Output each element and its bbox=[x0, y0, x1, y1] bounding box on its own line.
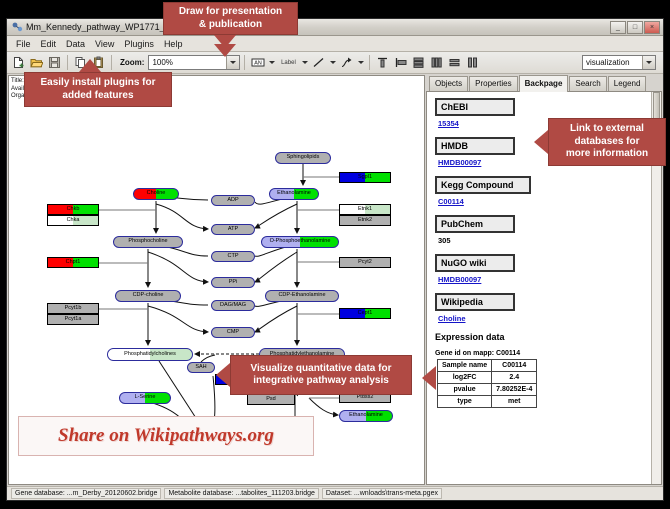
metabolite-node-phosphocholine[interactable]: Phosphocholine bbox=[113, 236, 183, 248]
metabolite-node-phosphatidylcholines[interactable]: Phosphatidylcholines bbox=[107, 348, 193, 361]
zoom-combobox[interactable]: 100% bbox=[148, 55, 240, 70]
expression-key: type bbox=[438, 396, 492, 408]
callout-plugins-text-line-0: Easily install plugins for bbox=[40, 77, 155, 90]
metabolite-node-dag-mag[interactable]: DAG/MAG bbox=[211, 300, 255, 311]
node-label: Cept1 bbox=[358, 311, 373, 317]
expression-value: C00114 bbox=[492, 360, 537, 372]
toolbar: Zoom: 100% AN Label bbox=[7, 52, 663, 74]
node-label: O-Phosphoethanolamine bbox=[270, 239, 331, 245]
callout-external-text-line-1: databases for bbox=[566, 136, 648, 149]
window-title: Mm_Kennedy_pathway_WP1771_45176.gpml bbox=[26, 22, 610, 32]
table-row: pvalue7.80252E-4 bbox=[438, 384, 537, 396]
node-label: Pcyt1a bbox=[65, 317, 82, 323]
node-label: Ethanolamine bbox=[277, 191, 311, 197]
gene-node-etnk2[interactable]: Etnk2 bbox=[339, 215, 391, 226]
zoom-value: 100% bbox=[152, 58, 172, 67]
close-button[interactable]: × bbox=[644, 21, 660, 34]
node-label: Choline bbox=[147, 191, 166, 197]
backpage-value-pubchem: 305 bbox=[438, 236, 661, 245]
node-label: Sphingolipids bbox=[287, 155, 320, 161]
label-dropdown-icon[interactable] bbox=[300, 55, 309, 70]
callout-visualize-text: Visualize quantitative data forintegrati… bbox=[251, 363, 392, 388]
callout-plugins-text: Easily install plugins foradded features bbox=[40, 77, 155, 102]
metabolite-node-cdp-choline[interactable]: CDP-choline bbox=[115, 290, 181, 302]
callout-external-text: Link to externaldatabases formore inform… bbox=[566, 123, 648, 161]
gene-node-chpt1[interactable]: Chpt1 bbox=[47, 257, 99, 268]
metabolite-node-sah[interactable]: SAH bbox=[187, 362, 215, 373]
gene-node-sgpl1[interactable]: Sgpl1 bbox=[339, 172, 391, 183]
gene-node-chkb[interactable]: Chkb bbox=[47, 204, 99, 215]
chevron-down-icon[interactable] bbox=[226, 56, 239, 69]
metabolite-node-o-phosphoethanolamine[interactable]: O-Phosphoethanolamine bbox=[261, 236, 339, 248]
metabolite-node-ethanolamine[interactable]: Ethanolamine bbox=[269, 188, 319, 200]
toolbar-separator bbox=[369, 55, 370, 70]
gene-node-cept1[interactable]: Cept1 bbox=[339, 308, 391, 319]
save-file-icon[interactable] bbox=[46, 54, 63, 71]
callout-plugins-text-line-1: added features bbox=[40, 90, 155, 103]
status-dataset: Dataset: ...wnloads\trans-meta.pgex bbox=[322, 488, 442, 499]
align-left-icon[interactable] bbox=[392, 54, 409, 71]
same-height-icon[interactable] bbox=[464, 54, 481, 71]
callout-easily-install-plugins: Easily install plugins foradded features bbox=[24, 72, 172, 107]
gene-node-pcyt1a[interactable]: Pcyt1a bbox=[47, 314, 99, 325]
metabolite-node-ethanolamine[interactable]: Ethanolamine bbox=[339, 410, 393, 422]
callout-top-text: Draw for presentation& publication bbox=[179, 6, 282, 31]
node-label: Etnk1 bbox=[358, 207, 372, 213]
node-label: Phosphatidylcholines bbox=[124, 352, 176, 358]
backpage-header-kegg-compound: Kegg Compound bbox=[435, 176, 531, 194]
node-label: ATP bbox=[228, 227, 238, 233]
distribute-horizontal-icon[interactable] bbox=[428, 54, 445, 71]
node-label: ADP bbox=[227, 198, 238, 204]
node-label: DAG/MAG bbox=[220, 303, 246, 309]
gene-id-on-mapp: Gene id on mapp: C00114 bbox=[435, 350, 661, 357]
pathvisio-icon bbox=[11, 21, 23, 33]
node-label: Etnk2 bbox=[358, 218, 372, 224]
expression-key: Sample name bbox=[438, 360, 492, 372]
status-bar: Gene database: ...m_Derby_20120602.bridg… bbox=[7, 486, 663, 500]
visualization-value: visualization bbox=[586, 58, 630, 67]
expression-value: 7.80252E-4 bbox=[492, 384, 537, 396]
align-top-icon[interactable] bbox=[374, 54, 391, 71]
node-label: CMP bbox=[227, 330, 239, 336]
open-file-icon[interactable] bbox=[28, 54, 45, 71]
gene-node-pcyt1b[interactable]: Pcyt1b bbox=[47, 303, 99, 314]
share-on-wikipathways-banner: Share on Wikipathways.org bbox=[18, 416, 314, 456]
node-label: Sgpl1 bbox=[358, 175, 372, 181]
node-label: L-Serine bbox=[135, 395, 156, 401]
visualization-combobox[interactable]: visualization bbox=[582, 55, 656, 70]
node-label: Pcyt2 bbox=[358, 260, 372, 266]
metabolite-node-cdp-ethanolamine[interactable]: CDP-Ethanolamine bbox=[265, 290, 339, 302]
callout-external-tail bbox=[534, 130, 548, 154]
status-metabolite-database: Metabolite database: ...tabolites_111203… bbox=[164, 488, 318, 499]
interaction-icon[interactable] bbox=[338, 54, 355, 71]
tab-search[interactable]: Search bbox=[569, 76, 606, 91]
node-label: Ptdss2 bbox=[357, 395, 374, 401]
metabolite-node-l-serine[interactable]: L-Serine bbox=[119, 392, 171, 404]
callout-visualize-quantitative-data: Visualize quantitative data forintegrati… bbox=[230, 355, 412, 395]
line-icon[interactable] bbox=[310, 54, 327, 71]
table-row: Sample nameC00114 bbox=[438, 360, 537, 372]
zoom-label: Zoom: bbox=[120, 58, 144, 67]
metabolite-node-choline[interactable]: Choline bbox=[133, 188, 179, 200]
expression-value: met bbox=[492, 396, 537, 408]
backpage-header-hmdb: HMDB bbox=[435, 137, 515, 155]
backpage-header-chebi: ChEBI bbox=[435, 98, 515, 116]
maximize-button[interactable]: □ bbox=[627, 21, 643, 34]
node-label: Phosphocholine bbox=[128, 239, 167, 245]
tab-backpage[interactable]: Backpage bbox=[519, 75, 569, 92]
line-dropdown-icon[interactable] bbox=[328, 55, 337, 70]
menu-file[interactable]: File bbox=[11, 38, 36, 50]
node-label: SAH bbox=[195, 365, 206, 371]
expression-value: 2.4 bbox=[492, 372, 537, 384]
screenshot-root: Mm_Kennedy_pathway_WP1771_45176.gpml _ □… bbox=[0, 0, 670, 509]
menu-bar: File Edit Data View Plugins Help bbox=[7, 36, 663, 52]
backpage-header-nugo-wiki: NuGO wiki bbox=[435, 254, 515, 272]
backpage-value-nugo-wiki[interactable]: HMDB00097 bbox=[438, 275, 661, 284]
minimize-button[interactable]: _ bbox=[610, 21, 626, 34]
menu-help[interactable]: Help bbox=[159, 38, 188, 50]
menu-view[interactable]: View bbox=[90, 38, 119, 50]
backpage-value-kegg-compound[interactable]: C00114 bbox=[438, 197, 661, 206]
table-row: log2FC2.4 bbox=[438, 372, 537, 384]
metabolite-node-atp[interactable]: ATP bbox=[211, 224, 255, 235]
tab-objects[interactable]: Objects bbox=[429, 76, 468, 91]
toolbar-separator bbox=[244, 55, 245, 70]
node-label: CDP-Ethanolamine bbox=[278, 293, 325, 299]
svg-text:AN: AN bbox=[254, 61, 262, 67]
gene-node-chka[interactable]: Chka bbox=[47, 215, 99, 226]
metabolite-node-sphingolipids[interactable]: Sphingolipids bbox=[275, 152, 331, 164]
interaction-dropdown-icon[interactable] bbox=[356, 55, 365, 70]
callout-plugins-tail bbox=[79, 59, 101, 72]
node-label: PPi bbox=[229, 280, 238, 286]
distribute-vertical-icon[interactable] bbox=[410, 54, 427, 71]
datanode-icon[interactable]: AN bbox=[249, 54, 266, 71]
callout-visualize-tail bbox=[216, 363, 230, 387]
metabolite-node-cmp[interactable]: CMP bbox=[211, 327, 255, 338]
label-icon-text: Label bbox=[281, 60, 296, 66]
node-label: Chkb bbox=[67, 207, 80, 213]
chevron-down-icon[interactable] bbox=[642, 56, 655, 69]
status-gene-database: Gene database: ...m_Derby_20120602.bridg… bbox=[11, 488, 161, 499]
backpage-header-pubchem: PubChem bbox=[435, 215, 515, 233]
expression-key: log2FC bbox=[438, 372, 492, 384]
tab-legend[interactable]: Legend bbox=[608, 76, 647, 91]
gene-node-pcyt2[interactable]: Pcyt2 bbox=[339, 257, 391, 268]
toolbar-separator bbox=[111, 55, 112, 70]
window-controls: _ □ × bbox=[610, 21, 660, 34]
callout-external-text-line-0: Link to external bbox=[566, 123, 648, 136]
menu-plugins[interactable]: Plugins bbox=[119, 38, 159, 50]
callout-expression-tail bbox=[422, 366, 436, 390]
expression-key: pvalue bbox=[438, 384, 492, 396]
node-label: Chka bbox=[67, 218, 80, 224]
node-label: CTP bbox=[228, 254, 239, 260]
metabolite-node-adp[interactable]: ADP bbox=[211, 195, 255, 206]
callout-top-text-line-1: & publication bbox=[179, 19, 282, 32]
menu-edit[interactable]: Edit bbox=[36, 38, 62, 50]
callout-draw-for-presentation: Draw for presentation& publication bbox=[163, 2, 298, 35]
same-width-icon[interactable] bbox=[446, 54, 463, 71]
callout-external-text-line-2: more information bbox=[566, 148, 648, 161]
datanode-dropdown-icon[interactable] bbox=[267, 55, 276, 70]
new-file-icon[interactable] bbox=[10, 54, 27, 71]
callout-top-tail-2 bbox=[214, 44, 236, 57]
node-label: Ethanolamine bbox=[349, 413, 383, 419]
node-label: CDP-choline bbox=[133, 293, 164, 299]
menu-data[interactable]: Data bbox=[61, 38, 90, 50]
metabolite-node-ppi[interactable]: PPi bbox=[211, 277, 255, 288]
callout-link-to-external-databases: Link to externaldatabases formore inform… bbox=[548, 118, 666, 166]
callout-top-text-line-0: Draw for presentation bbox=[179, 6, 282, 19]
expression-data-heading: Expression data bbox=[435, 332, 661, 342]
backpage-header-wikipedia: Wikipedia bbox=[435, 293, 515, 311]
node-label: Pcyt1b bbox=[65, 306, 82, 312]
label-icon[interactable]: Label bbox=[277, 54, 299, 71]
tab-properties[interactable]: Properties bbox=[469, 76, 517, 91]
callout-visualize-text-line-1: integrative pathway analysis bbox=[251, 375, 392, 388]
metabolite-node-ctp[interactable]: CTP bbox=[211, 251, 255, 262]
gene-node-etnk1[interactable]: Etnk1 bbox=[339, 204, 391, 215]
node-label: Chpt1 bbox=[66, 260, 81, 266]
title-bar: Mm_Kennedy_pathway_WP1771_45176.gpml _ □… bbox=[7, 19, 663, 36]
gene-node-psd[interactable]: Psd bbox=[247, 394, 295, 405]
toolbar-separator bbox=[67, 55, 68, 70]
expression-data-table: Sample nameC00114log2FC2.4pvalue7.80252E… bbox=[437, 359, 537, 408]
node-label: Psd bbox=[266, 397, 275, 403]
side-panel-tabs: Objects Properties Backpage Search Legen… bbox=[426, 75, 662, 91]
callout-visualize-text-line-0: Visualize quantitative data for bbox=[251, 363, 392, 376]
table-row: typemet bbox=[438, 396, 537, 408]
backpage-value-wikipedia[interactable]: Choline bbox=[438, 314, 661, 323]
